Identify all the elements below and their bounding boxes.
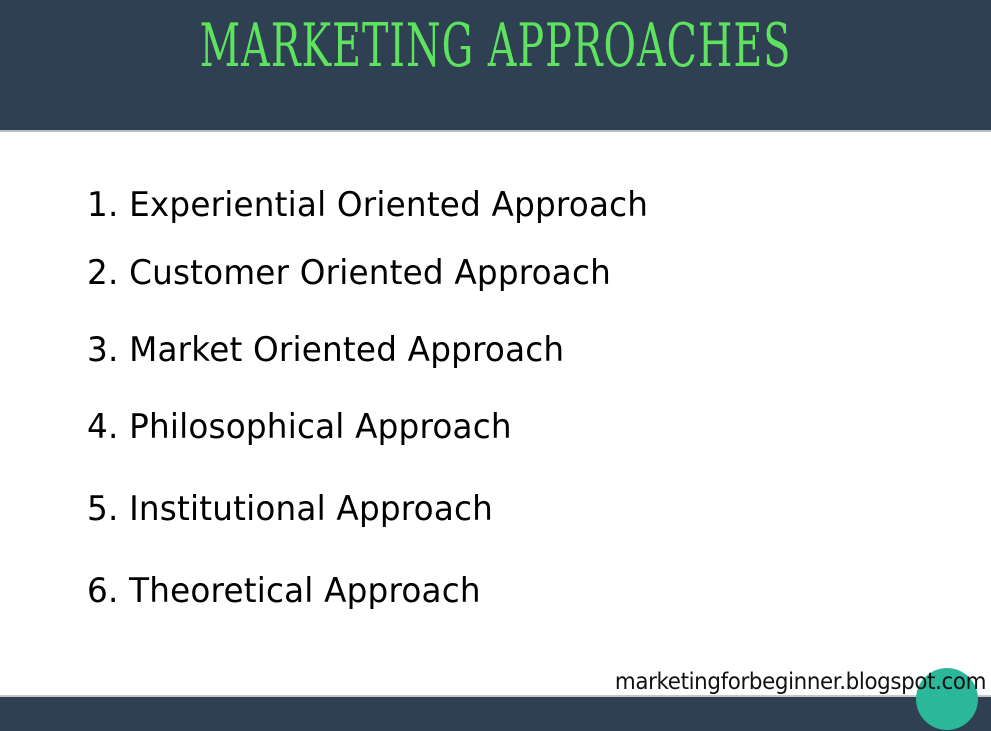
list-item-label: Market Oriented Approach (129, 330, 564, 370)
approach-list: 1. Experiential Oriented Approach 2. Cus… (87, 186, 907, 610)
list-item: 4. Philosophical Approach (87, 408, 874, 446)
list-item-label: Philosophical Approach (129, 407, 512, 447)
list-item-label: Theoretical Approach (129, 571, 481, 611)
list-item-label: Experiential Oriented Approach (129, 185, 648, 225)
list-item-number: 4. (87, 407, 119, 447)
list-item-number: 1. (87, 185, 119, 225)
list-item: 1. Experiential Oriented Approach (87, 186, 874, 224)
slide-title: MARKETING APPROACHES (168, 14, 822, 78)
list-item-number: 3. (87, 330, 119, 370)
list-item: 6. Theoretical Approach (87, 572, 874, 610)
list-item: 3. Market Oriented Approach (87, 331, 874, 369)
slide-canvas: MARKETING APPROACHES 1. Experiential Ori… (0, 0, 991, 731)
title-band-underline (0, 130, 991, 132)
list-item-number: 6. (87, 571, 119, 611)
list-item-number: 5. (87, 489, 119, 529)
list-item-label: Institutional Approach (129, 489, 493, 529)
list-item: 5. Institutional Approach (87, 490, 874, 528)
list-item: 2. Customer Oriented Approach (87, 254, 874, 292)
footer-band (0, 697, 991, 731)
list-item-label: Customer Oriented Approach (129, 253, 611, 293)
list-item-number: 2. (87, 253, 119, 293)
site-url-text: marketingforbeginner.blogspot.com (615, 667, 986, 697)
